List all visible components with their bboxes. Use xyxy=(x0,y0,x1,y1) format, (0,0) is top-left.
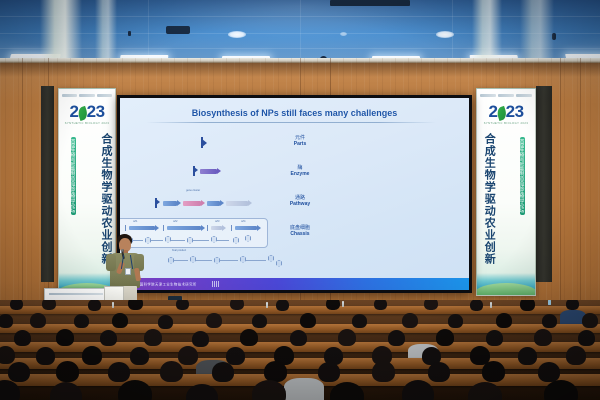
slide-glyph-pathway: gene cluster xyxy=(152,190,262,210)
audience-head xyxy=(230,300,244,310)
ceiling xyxy=(0,0,600,62)
audience-head-foreground xyxy=(118,380,152,400)
audience-head xyxy=(436,329,454,346)
audience-head xyxy=(192,331,209,347)
banner-left-subtitle-vertical: 首届生物与智能制造合成生物学论坛 xyxy=(71,137,76,215)
audience-head xyxy=(0,314,13,328)
audience-head xyxy=(178,346,198,365)
banner-left-year-head: 2 xyxy=(69,102,78,121)
ceiling-seam-vertical xyxy=(300,0,301,62)
slide-row-label-parts: 元件 Parts xyxy=(260,136,340,148)
banner-left-year: 223 xyxy=(59,103,115,120)
audience-head xyxy=(14,330,31,346)
audience-head xyxy=(566,346,586,365)
lanyard-badge xyxy=(125,268,131,275)
wall-recess-right xyxy=(536,86,552,282)
audience-head xyxy=(226,347,245,365)
audience-head xyxy=(338,329,356,346)
ceiling-sensor xyxy=(128,31,131,36)
audience-head xyxy=(534,329,552,346)
ceiling-seam-vertical xyxy=(148,0,149,62)
banner-sponsor-strip xyxy=(480,92,532,98)
ceiling-column-reflection xyxy=(95,0,117,62)
slide-footer-text: 中国科学院天津工业生物技术研究所 xyxy=(136,282,197,287)
banner-right-subtitle: SYNTHETIC BIOLOGY 2023 xyxy=(477,122,535,125)
audience-head xyxy=(582,313,598,328)
audience-head xyxy=(240,329,258,346)
audience-head xyxy=(42,300,56,310)
audience-head xyxy=(318,362,340,382)
audience-phone xyxy=(548,300,551,305)
audience-area xyxy=(0,300,600,400)
audience-head xyxy=(486,330,503,346)
slide-row-label-enzyme: 酶 Enzyme xyxy=(260,166,340,178)
banner-right: 223 SYNTHETIC BIOLOGY 2023 合成生物学驱动农业创新 首… xyxy=(476,88,536,296)
audience-head xyxy=(100,330,117,346)
water-bottle xyxy=(266,302,268,308)
banner-left-subtitle: SYNTHETIC BIOLOGY 2023 xyxy=(59,122,115,125)
audience-head xyxy=(578,330,595,346)
banner-right-year: 223 xyxy=(477,103,535,120)
audience-head xyxy=(496,313,512,328)
audience-head xyxy=(518,347,537,365)
slide-row-label-chassis: 底盘细胞 Chassis xyxy=(260,226,340,238)
ceiling-downlight xyxy=(436,31,454,38)
audience-head xyxy=(482,361,505,382)
audience-head xyxy=(520,300,535,311)
audience-head xyxy=(538,362,560,382)
audience-head-foreground xyxy=(186,384,218,400)
slide-row-en-pathway: Pathway xyxy=(260,202,340,208)
slide-footer-mark xyxy=(212,281,220,287)
slide-glyph-enzyme xyxy=(190,164,238,178)
audience-head xyxy=(402,313,418,328)
audience-head-foreground xyxy=(402,380,434,400)
audience-head xyxy=(0,346,15,364)
ceiling-projector-rig xyxy=(330,0,410,6)
slide-micro-label-orf2: orf2 xyxy=(173,221,177,224)
slide-row-en-chassis: Chassis xyxy=(260,232,340,238)
audience-head xyxy=(388,330,405,346)
audience-head xyxy=(82,346,102,365)
audience-head xyxy=(448,314,463,328)
audience-head xyxy=(264,361,287,382)
slide-title: Biosynthesis of NPs still faces many cha… xyxy=(120,108,469,118)
slide-footer-bar: 中国科学院天津工业生物技术研究所 xyxy=(120,278,469,290)
audience-shoulders xyxy=(284,378,324,400)
banner-right-footer-art xyxy=(477,273,535,295)
audience-head xyxy=(374,300,387,310)
ceiling-downlight xyxy=(228,31,246,38)
wall-recess-left xyxy=(41,86,54,282)
audience-head xyxy=(8,362,30,382)
slide-molecule-row: final product xyxy=(154,250,304,268)
audience-head xyxy=(128,300,143,310)
audience-head xyxy=(276,300,289,311)
audience-head xyxy=(36,347,55,365)
banner-right-subtitle-vertical: 首届生物与智能制造合成生物学论坛 xyxy=(520,137,525,215)
audience-head-foreground xyxy=(252,380,286,400)
audience-head xyxy=(470,300,483,311)
audience-head xyxy=(56,361,79,382)
ceiling-downlight xyxy=(340,32,347,36)
ceiling-column-reflection xyxy=(40,0,82,62)
slide-micro-label-pathway: gene cluster xyxy=(186,190,200,193)
audience-head xyxy=(326,300,340,310)
audience-head xyxy=(300,313,316,328)
banner-right-title: 合成生物学驱动农业创新 xyxy=(483,133,494,265)
ceiling-column-reflection xyxy=(520,0,554,62)
slide-row-label-pathway: 通路 Pathway xyxy=(260,196,340,208)
audience-head xyxy=(428,362,450,382)
audience-head xyxy=(372,361,395,382)
audience-head xyxy=(108,362,130,382)
audience-head xyxy=(290,330,307,346)
banner-left-title: 合成生物学驱动农业创新 xyxy=(100,133,111,265)
audience-head xyxy=(206,313,222,328)
audience-head xyxy=(130,347,149,365)
audience-head xyxy=(252,314,267,328)
water-bottle xyxy=(490,302,492,308)
banner-right-year-tail: 23 xyxy=(506,102,524,121)
banner-right-year-head: 2 xyxy=(488,102,497,121)
water-bottle xyxy=(112,302,114,308)
presentation-slide: Biosynthesis of NPs still faces many cha… xyxy=(120,98,469,290)
speaker-sleeve-left xyxy=(106,254,116,271)
ceiling-column-reflection xyxy=(472,0,502,62)
audience-head xyxy=(158,315,173,329)
water-bottle xyxy=(342,301,344,307)
audience-head xyxy=(88,300,101,311)
slide-micro-label-orf1: orf1 xyxy=(133,221,137,224)
slide-glyph-parts xyxy=(196,136,230,150)
audience-head xyxy=(176,300,189,310)
audience-head xyxy=(30,313,46,328)
audience-head xyxy=(212,362,234,382)
audience-head xyxy=(56,329,74,346)
audience-head-foreground xyxy=(544,380,578,400)
audience-head xyxy=(74,314,89,328)
audience-head xyxy=(10,300,23,310)
audience-head xyxy=(542,314,557,328)
projection-screen-frame: Biosynthesis of NPs still faces many cha… xyxy=(117,95,472,293)
audience-head xyxy=(112,313,128,328)
slide-row-en-enzyme: Enzyme xyxy=(260,172,340,178)
slide-chassis-diagram: orf1 orf2 orf3 orf4 xyxy=(120,218,268,248)
banner-sponsor-strip xyxy=(62,92,112,98)
slide-micro-label-orf4: orf4 xyxy=(241,221,245,224)
banner-left-year-tail: 23 xyxy=(87,102,105,121)
slide-title-divider xyxy=(146,122,436,123)
audience-head xyxy=(424,300,438,310)
audience-head xyxy=(352,314,367,328)
conference-photo: 223 SYNTHETIC BIOLOGY 2023 合成生物学驱动农业创新 首… xyxy=(0,0,600,400)
slide-micro-label-orf3: orf3 xyxy=(215,221,219,224)
audience-head xyxy=(144,329,162,346)
audience-head xyxy=(160,361,183,382)
slide-row-en-parts: Parts xyxy=(260,142,340,148)
ceiling-speaker-box xyxy=(166,26,190,34)
audience-head xyxy=(566,300,579,310)
ceiling-seam-vertical xyxy=(452,0,453,62)
